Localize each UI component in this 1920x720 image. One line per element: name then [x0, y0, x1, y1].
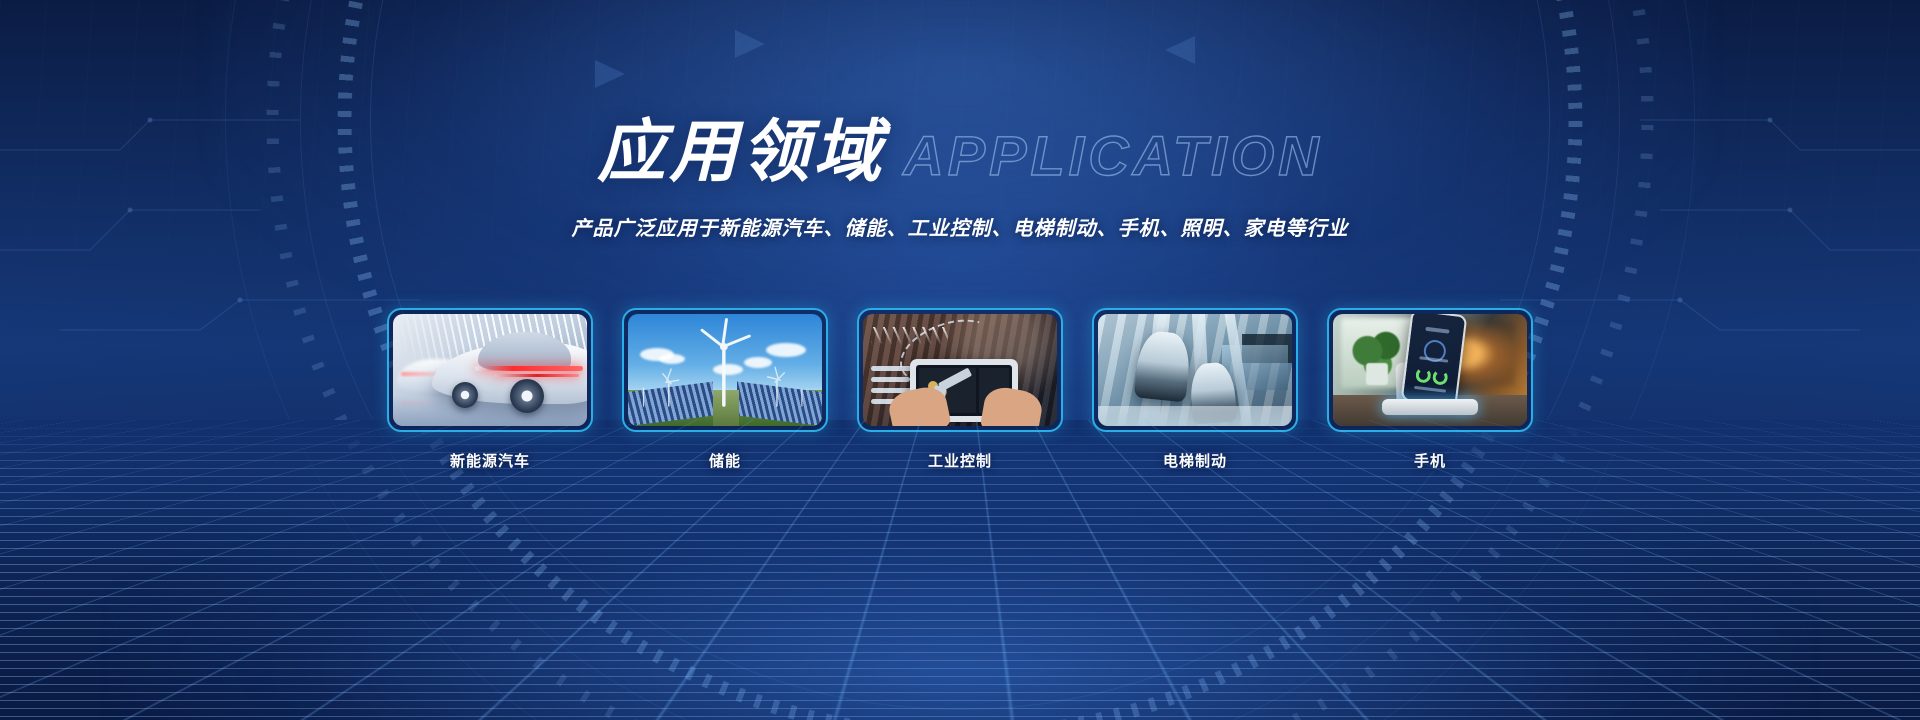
card-thumbnail-electric-sports-car — [393, 314, 587, 426]
application-card-energy-storage[interactable]: 储能 — [622, 308, 828, 471]
page-title-english: APPLICATION — [903, 128, 1322, 184]
card-frame — [857, 308, 1063, 432]
card-label: 储能 — [622, 450, 828, 471]
application-card-industrial-control[interactable]: 工业控制 — [857, 308, 1063, 471]
card-thumbnail-glass-elevators — [1098, 314, 1292, 426]
card-frame — [1327, 308, 1533, 432]
application-card-elevator-braking[interactable]: 电梯制动 — [1092, 308, 1298, 471]
card-thumbnail-wind-turbines-solar-panels — [628, 314, 822, 426]
card-label: 手机 — [1327, 450, 1533, 471]
banner-heading: 应用领域 APPLICATION 产品广泛应用于新能源汽车、储能、工业控制、电梯… — [0, 118, 1920, 241]
application-banner: 应用领域 APPLICATION 产品广泛应用于新能源汽车、储能、工业控制、电梯… — [0, 0, 1920, 720]
card-label: 工业控制 — [857, 450, 1063, 471]
floor-glow — [110, 500, 1810, 720]
page-title: 应用领域 — [597, 118, 885, 186]
card-thumbnail-tablet-industrial-automation — [863, 314, 1057, 426]
card-frame — [622, 308, 828, 432]
card-thumbnail-smartphone-wireless-charger — [1333, 314, 1527, 426]
card-label: 新能源汽车 — [387, 450, 593, 471]
card-frame — [387, 308, 593, 432]
application-card-new-energy-vehicle[interactable]: 新能源汽车 — [387, 308, 593, 471]
card-frame — [1092, 308, 1298, 432]
banner-subtitle: 产品广泛应用于新能源汽车、储能、工业控制、电梯制动、手机、照明、家电等行业 — [0, 212, 1920, 241]
application-card-list: 新能源汽车 — [0, 308, 1920, 471]
title-row: 应用领域 APPLICATION — [597, 118, 1322, 186]
application-card-mobile-phone[interactable]: 手机 — [1327, 308, 1533, 471]
card-label: 电梯制动 — [1092, 450, 1298, 471]
